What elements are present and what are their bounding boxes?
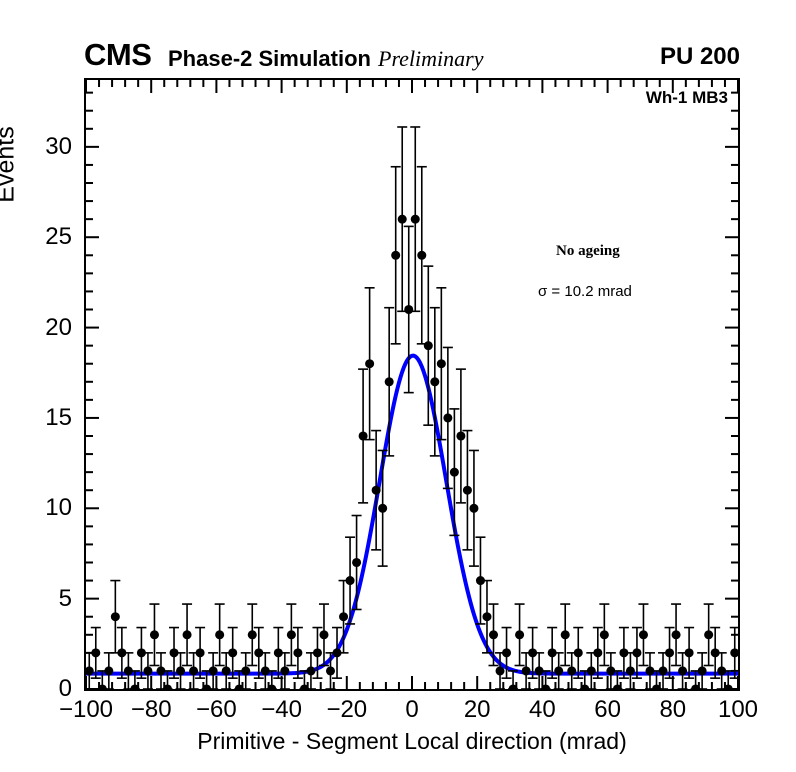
- data-point: [417, 251, 426, 260]
- data-point: [489, 630, 498, 639]
- data-point: [600, 630, 609, 639]
- gaussian-fit-curve: [86, 356, 738, 674]
- data-point: [639, 630, 648, 639]
- data-point: [450, 468, 459, 477]
- data-point: [339, 612, 348, 621]
- preliminary-label: Preliminary: [378, 45, 484, 72]
- plot-frame: Wh-1 MB3 No ageing σ = 10.2 mrad: [84, 78, 740, 691]
- x-tick-label: 40: [529, 696, 556, 724]
- data-point: [665, 648, 674, 657]
- data-point: [280, 666, 289, 675]
- data-point: [287, 630, 296, 639]
- data-point: [306, 666, 315, 675]
- x-tick-label: −40: [261, 696, 302, 724]
- data-point: [365, 359, 374, 368]
- data-point: [704, 630, 713, 639]
- data-point: [352, 558, 361, 567]
- data-point: [430, 377, 439, 386]
- data-point: [678, 666, 687, 675]
- data-point: [391, 251, 400, 260]
- y-tick-label: 0: [30, 675, 72, 703]
- data-point: [372, 486, 381, 495]
- y-tick-label: 30: [30, 133, 72, 161]
- data-point: [91, 648, 100, 657]
- data-point: [424, 341, 433, 350]
- data-point: [456, 431, 465, 440]
- data-point: [554, 666, 563, 675]
- y-tick-label: 10: [30, 494, 72, 522]
- data-point: [189, 666, 198, 675]
- x-tick-label: −60: [196, 696, 237, 724]
- data-point: [104, 666, 113, 675]
- x-tick-label: 0: [405, 696, 418, 724]
- data-point: [522, 666, 531, 675]
- x-tick-label: −80: [131, 696, 172, 724]
- data-point: [698, 666, 707, 675]
- y-tick-label: 15: [30, 404, 72, 432]
- x-tick-label: 60: [594, 696, 621, 724]
- data-point: [111, 612, 120, 621]
- data-point: [593, 648, 602, 657]
- x-tick-label: 80: [659, 696, 686, 724]
- data-point: [567, 666, 576, 675]
- data-point: [561, 630, 570, 639]
- data-point: [346, 576, 355, 585]
- data-point: [685, 648, 694, 657]
- x-tick-label: −20: [326, 696, 367, 724]
- y-tick-label: 20: [30, 314, 72, 342]
- pileup-label: PU 200: [660, 43, 740, 71]
- axis-ticks: [86, 80, 738, 689]
- data-point: [176, 666, 185, 675]
- data-point: [241, 666, 250, 675]
- data-point: [411, 215, 420, 224]
- data-point: [496, 666, 505, 675]
- data-point: [469, 504, 478, 513]
- data-point: [437, 359, 446, 368]
- data-point: [632, 648, 641, 657]
- plot-data-area: [86, 80, 738, 689]
- data-point: [183, 630, 192, 639]
- x-axis-title: Primitive - Segment Local direction (mra…: [84, 728, 740, 755]
- data-points-group: [86, 127, 738, 689]
- data-point: [143, 666, 152, 675]
- data-point: [385, 377, 394, 386]
- data-point: [404, 305, 413, 314]
- data-point: [150, 630, 159, 639]
- x-tick-label: 20: [464, 696, 491, 724]
- x-tick-label: 100: [718, 696, 758, 724]
- data-point: [515, 630, 524, 639]
- data-point: [730, 648, 738, 657]
- data-point: [443, 413, 452, 422]
- data-point: [209, 666, 218, 675]
- data-point: [228, 648, 237, 657]
- data-point: [196, 648, 205, 657]
- simulation-subtitle: Phase-2 Simulation: [168, 45, 371, 72]
- data-point: [293, 648, 302, 657]
- data-point: [659, 666, 668, 675]
- data-point: [398, 215, 407, 224]
- data-point: [326, 666, 335, 675]
- data-point: [482, 612, 491, 621]
- plot-canvas: CMS Phase-2 Simulation Preliminary PU 20…: [0, 0, 796, 772]
- data-point: [672, 630, 681, 639]
- data-point: [626, 666, 635, 675]
- data-point: [215, 630, 224, 639]
- y-tick-label: 5: [30, 585, 72, 613]
- data-point: [319, 630, 328, 639]
- data-point: [502, 648, 511, 657]
- data-point: [313, 648, 322, 657]
- data-point: [378, 504, 387, 513]
- cms-logo-text: CMS: [84, 38, 151, 72]
- data-point: [587, 666, 596, 675]
- data-point: [463, 486, 472, 495]
- data-point: [574, 648, 583, 657]
- data-point: [248, 630, 257, 639]
- y-axis-title: Events: [0, 95, 21, 235]
- data-point: [222, 666, 231, 675]
- y-tick-label: 25: [30, 223, 72, 251]
